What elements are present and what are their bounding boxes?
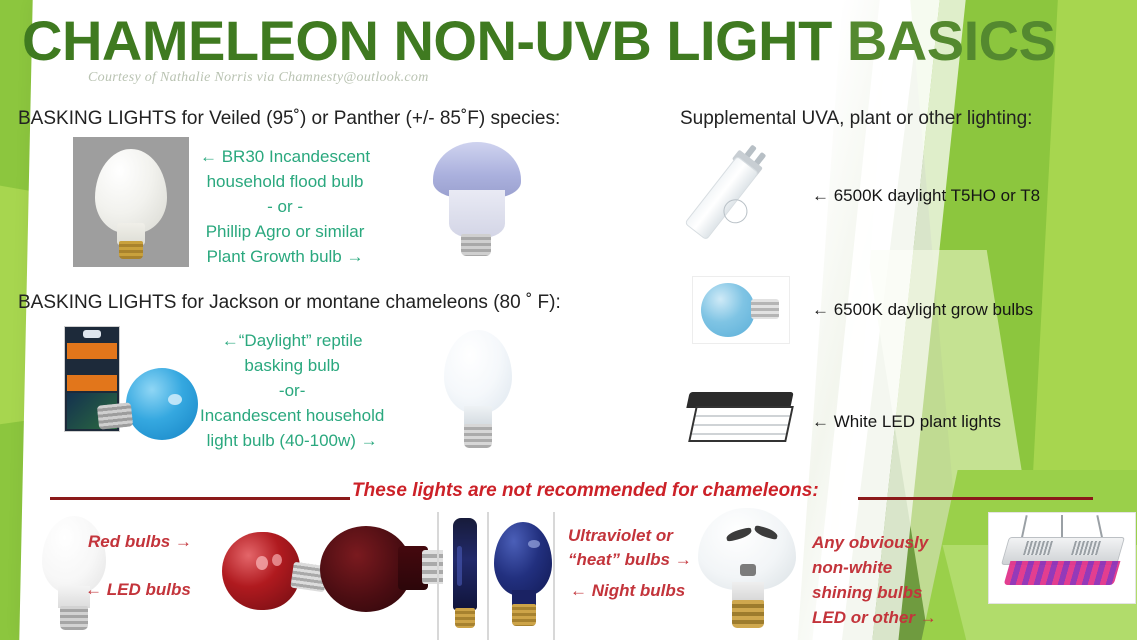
note-line: -or- bbox=[200, 378, 384, 403]
uv-tube-highlight bbox=[457, 546, 462, 586]
section-heading-basking-jackson: BASKING LIGHTS for Jackson or montane ch… bbox=[18, 292, 561, 314]
bottom-divider-3 bbox=[487, 512, 489, 640]
label-line: “heat” bulbs → bbox=[568, 548, 692, 572]
banner-rule-left bbox=[50, 497, 350, 500]
grow-panel-led-array bbox=[1004, 561, 1121, 585]
note-line: Phillip Agro or similar bbox=[200, 219, 370, 244]
large-clear-heat-flood-bulb-image bbox=[692, 508, 804, 636]
uv-blacklight-tube-image bbox=[443, 512, 487, 638]
white-led-bulb-base bbox=[60, 606, 88, 630]
banner-rule-right bbox=[858, 497, 1093, 500]
supplemental-item-label-2: ← White LED plant lights bbox=[812, 412, 1001, 432]
red-bulb-highlight-1 bbox=[256, 556, 268, 570]
label-line: LED or other → bbox=[812, 605, 937, 630]
a19-bulb-neck bbox=[464, 406, 492, 426]
note-line: ←“Daylight” reptile bbox=[200, 328, 384, 353]
note-line: - or - bbox=[200, 194, 370, 219]
supplemental-item-label-1: ← 6500K daylight grow bulbs bbox=[812, 300, 1033, 320]
frosted-a19-bulb-image bbox=[428, 330, 524, 454]
supplemental-item-label-0: ← 6500K daylight T5HO or T8 bbox=[812, 186, 1040, 206]
note-line: household flood bulb bbox=[200, 169, 370, 194]
blue-night-bulb-image bbox=[494, 522, 556, 634]
label-led-bulbs: ← LED bulbs bbox=[85, 578, 191, 602]
label-night-bulbs: ← Night bulbs bbox=[570, 579, 685, 603]
fluorescent-tube-image bbox=[668, 140, 795, 269]
blue-bulb-base bbox=[97, 402, 133, 429]
br30-flood-bulb-image bbox=[72, 136, 190, 268]
grow-panel-vent-2 bbox=[1071, 541, 1101, 555]
subtitle-credit: Courtesy of Nathalie Norris via Chamnest… bbox=[88, 70, 429, 86]
tube-label-mark bbox=[719, 194, 753, 228]
led-wall-pack-image bbox=[688, 390, 792, 450]
pink-led-grow-panel-image bbox=[988, 512, 1136, 604]
br30-bulb-glass bbox=[95, 149, 167, 233]
basking-veiled-note: ← BR30 Incandescent household flood bulb… bbox=[200, 144, 370, 269]
flood-bulb-stem bbox=[740, 564, 756, 576]
br30-bulb-base bbox=[119, 241, 143, 259]
dark-red-heat-lamp-image bbox=[320, 518, 450, 628]
package-band-top bbox=[67, 343, 117, 359]
label-ultraviolet-heat-bulbs: Ultraviolet or “heat” bulbs → bbox=[568, 524, 692, 572]
warning-banner: These lights are not recommended for cha… bbox=[30, 480, 1110, 512]
poster-content: CHAMELEON NON-UVB LIGHT BASICS Courtesy … bbox=[0, 0, 1137, 640]
section-heading-basking-veiled: BASKING LIGHTS for Veiled (95˚) or Panth… bbox=[18, 108, 560, 130]
grow-panel-vent-1 bbox=[1023, 541, 1053, 555]
page-title-tail: BASICS bbox=[847, 9, 1056, 72]
section-heading-supplemental: Supplemental UVA, plant or other lightin… bbox=[680, 108, 1032, 130]
label-line: Ultraviolet or bbox=[568, 524, 692, 548]
note-line: basking bulb bbox=[200, 353, 384, 378]
flood-bulb-glass bbox=[698, 508, 796, 590]
red-bulb-highlight-2 bbox=[272, 554, 282, 566]
page-title: CHAMELEON NON-UVB LIGHT BASICS bbox=[22, 10, 1112, 72]
flood-bulb-base bbox=[732, 600, 764, 628]
page-title-main: CHAMELEON NON-UVB LIGHT bbox=[22, 9, 847, 72]
blue-grow-bulb-image bbox=[692, 276, 790, 344]
label-red-bulbs: Red bulbs → bbox=[88, 530, 192, 554]
plant-growth-bulb-image bbox=[425, 138, 529, 266]
plant-growth-bulb-body bbox=[449, 190, 505, 238]
bottom-divider-1 bbox=[553, 512, 555, 640]
blue-daylight-reptile-bulb-image bbox=[96, 368, 200, 450]
package-hang-hole bbox=[83, 330, 101, 338]
label-any-non-white-bulbs: Any obviously non-white shining bulbs LE… bbox=[812, 530, 937, 630]
night-bulb-base bbox=[512, 604, 536, 626]
label-line: Any obviously bbox=[812, 530, 937, 555]
basking-jackson-note: ←“Daylight” reptile basking bulb -or- In… bbox=[200, 328, 384, 453]
grow-bulb-globe bbox=[701, 283, 755, 337]
note-line: light bulb (40-100w) → bbox=[200, 428, 384, 453]
blue-bulb-globe bbox=[126, 368, 198, 440]
night-bulb-highlight bbox=[528, 540, 540, 548]
tube-body bbox=[684, 156, 759, 241]
note-line: ← BR30 Incandescent bbox=[200, 144, 370, 169]
warning-banner-text: These lights are not recommended for cha… bbox=[352, 480, 819, 502]
a19-bulb-base bbox=[464, 424, 492, 448]
a19-bulb-glass bbox=[444, 330, 512, 414]
plant-growth-bulb-base bbox=[461, 234, 491, 256]
label-line: non-white bbox=[812, 555, 937, 580]
bottom-divider-2 bbox=[437, 512, 439, 640]
blue-bulb-highlight bbox=[168, 394, 182, 405]
wall-pack-led-face bbox=[688, 406, 794, 442]
infographic-poster: CHAMELEON NON-UVB LIGHT BASICS Courtesy … bbox=[0, 0, 1137, 640]
uv-tube-base bbox=[455, 608, 475, 628]
note-line: Incandescent household bbox=[200, 403, 384, 428]
red-bulb-glass bbox=[222, 532, 300, 610]
red-incandescent-bulb-image bbox=[222, 528, 332, 624]
label-line: shining bulbs bbox=[812, 580, 937, 605]
note-line: Plant Growth bulb → bbox=[200, 244, 370, 269]
flood-bulb-neck bbox=[732, 582, 764, 602]
night-bulb-glass bbox=[494, 522, 552, 596]
grow-bulb-base bbox=[751, 299, 779, 319]
